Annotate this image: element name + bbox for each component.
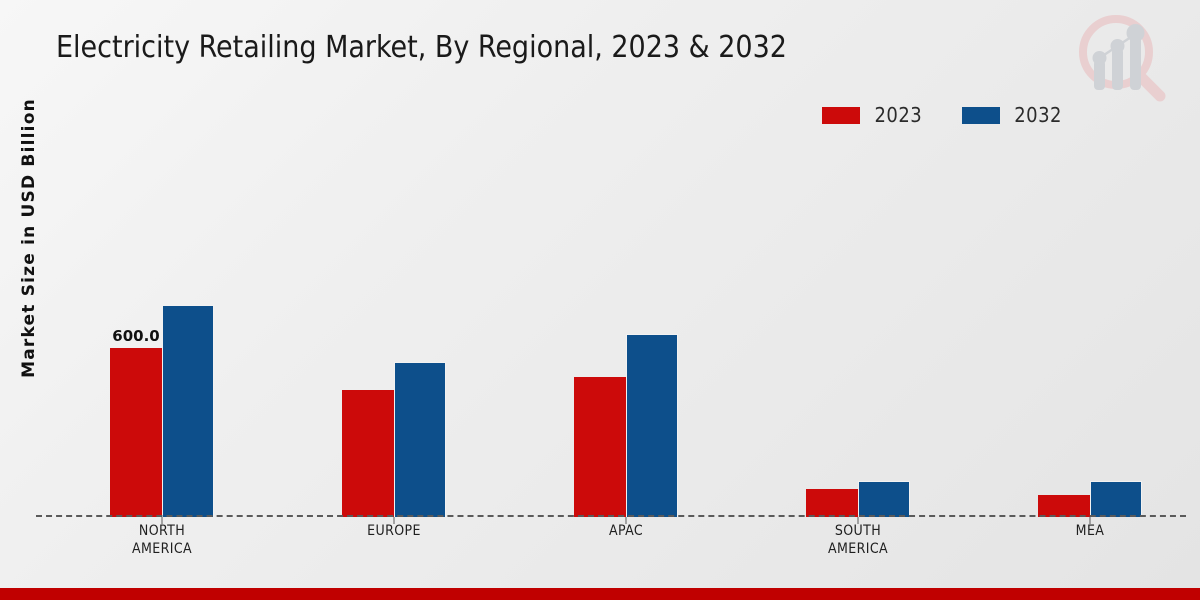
footer-accent-bar	[0, 588, 1200, 600]
bar-group-north-america: 600.0	[82, 150, 242, 517]
category-label-south-america: SOUTH AMERICA	[778, 522, 938, 558]
bar-group-south-america	[778, 150, 938, 517]
bar-2023-europe[interactable]	[342, 390, 394, 517]
x-axis-baseline	[36, 515, 1186, 517]
category-label-europe: EUROPE	[314, 522, 474, 558]
bar-2032-europe[interactable]	[394, 362, 446, 517]
legend-swatch-2023	[822, 107, 860, 124]
category-label-apac: APAC	[546, 522, 706, 558]
bar-2023-north-america[interactable]: 600.0	[110, 348, 162, 517]
plot-area: 600.0	[36, 150, 1186, 517]
market-research-logo-icon	[1068, 8, 1178, 108]
bar-value-label: 600.0	[112, 327, 159, 345]
category-label-line2: AMERICA	[132, 541, 192, 557]
category-label-line2: AMERICA	[828, 541, 888, 557]
category-label-mea: MEA	[1010, 522, 1170, 558]
category-label-line1: NORTH	[139, 523, 185, 539]
category-label-north-america: NORTH AMERICA	[82, 522, 242, 558]
bar-2023-apac[interactable]	[574, 377, 626, 517]
bar-2032-mea[interactable]	[1090, 481, 1142, 517]
bar-group-mea	[1010, 150, 1170, 517]
bar-groups: 600.0	[82, 150, 1170, 517]
category-label-line1: APAC	[609, 523, 643, 539]
category-label-line1: EUROPE	[367, 523, 421, 539]
legend-label-2023: 2023	[874, 103, 922, 127]
bar-2023-mea[interactable]	[1038, 495, 1090, 517]
chart-legend: 2023 2032	[822, 103, 1062, 127]
chart-canvas: Electricity Retailing Market, By Regiona…	[0, 0, 1200, 600]
bar-group-europe	[314, 150, 474, 517]
bar-2032-apac[interactable]	[626, 334, 678, 517]
legend-label-2032: 2032	[1014, 103, 1062, 127]
bar-2032-north-america[interactable]	[162, 305, 214, 517]
bar-2023-south-america[interactable]	[806, 489, 858, 517]
category-labels: NORTH AMERICA EUROPE APAC SOUTH AMERICA …	[82, 522, 1170, 558]
bar-2032-south-america[interactable]	[858, 481, 910, 517]
legend-item-2032[interactable]: 2032	[962, 103, 1062, 127]
chart-title: Electricity Retailing Market, By Regiona…	[56, 30, 787, 65]
category-label-line1: MEA	[1076, 523, 1105, 539]
bar-group-apac	[546, 150, 706, 517]
legend-swatch-2032	[962, 107, 1000, 124]
legend-item-2023[interactable]: 2023	[822, 103, 922, 127]
category-label-line1: SOUTH	[835, 523, 881, 539]
